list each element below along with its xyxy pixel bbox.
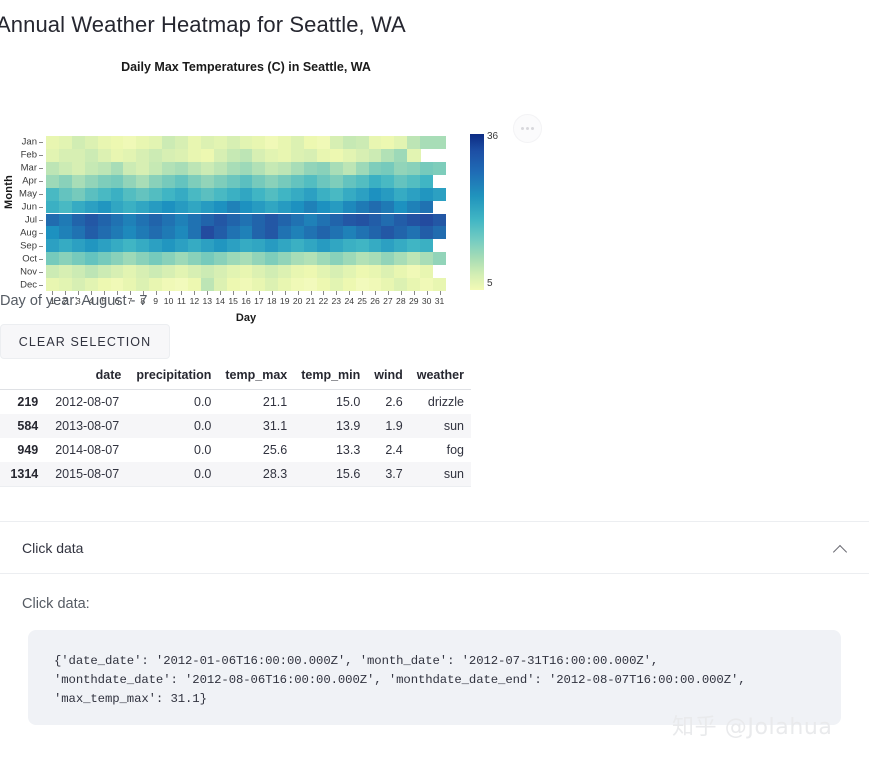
heatmap-cell[interactable] — [304, 226, 317, 239]
heatmap-cell[interactable] — [59, 188, 72, 201]
heatmap-cell[interactable] — [188, 149, 201, 162]
heatmap-cell[interactable] — [433, 136, 446, 149]
heatmap-cell[interactable] — [59, 278, 72, 291]
heatmap-cell[interactable] — [420, 239, 433, 252]
heatmap-cell[interactable] — [420, 226, 433, 239]
heatmap-cell[interactable] — [291, 149, 304, 162]
heatmap-cell[interactable] — [214, 239, 227, 252]
heatmap-cell[interactable] — [227, 162, 240, 175]
heatmap-cell[interactable] — [381, 188, 394, 201]
heatmap-cell[interactable] — [72, 162, 85, 175]
heatmap-cell[interactable] — [98, 278, 111, 291]
heatmap-cell[interactable] — [265, 265, 278, 278]
heatmap-cell[interactable] — [343, 278, 356, 291]
heatmap-cell[interactable] — [407, 214, 420, 227]
heatmap-cell[interactable] — [420, 201, 433, 214]
heatmap-cell[interactable] — [304, 149, 317, 162]
heatmap-cell[interactable] — [188, 136, 201, 149]
heatmap-cell[interactable] — [162, 188, 175, 201]
heatmap-cell[interactable] — [46, 201, 59, 214]
heatmap-cell[interactable] — [72, 201, 85, 214]
heatmap-cell[interactable] — [394, 214, 407, 227]
heatmap-cell[interactable] — [381, 214, 394, 227]
heatmap-cell[interactable] — [188, 201, 201, 214]
heatmap-cell[interactable] — [394, 265, 407, 278]
heatmap-cell[interactable] — [136, 265, 149, 278]
heatmap-cell[interactable] — [317, 149, 330, 162]
heatmap-cell[interactable] — [369, 226, 382, 239]
heatmap-cell[interactable] — [188, 278, 201, 291]
expander-click-data[interactable] — [0, 533, 869, 565]
heatmap-cell[interactable] — [85, 175, 98, 188]
heatmap-plot-area[interactable] — [46, 136, 446, 291]
heatmap-cell[interactable] — [85, 201, 98, 214]
heatmap-cell[interactable] — [111, 265, 124, 278]
heatmap-cell[interactable] — [227, 239, 240, 252]
heatmap-cell[interactable] — [394, 175, 407, 188]
heatmap-cell[interactable] — [175, 214, 188, 227]
heatmap-cell[interactable] — [330, 265, 343, 278]
heatmap-cell[interactable] — [123, 226, 136, 239]
heatmap-cell[interactable] — [330, 239, 343, 252]
heatmap-cell[interactable] — [240, 252, 253, 265]
heatmap-cell[interactable] — [317, 136, 330, 149]
heatmap-cell[interactable] — [407, 278, 420, 291]
heatmap-cell[interactable] — [265, 162, 278, 175]
heatmap-cell[interactable] — [265, 239, 278, 252]
heatmap-cell[interactable] — [123, 188, 136, 201]
heatmap-cell[interactable] — [98, 175, 111, 188]
heatmap-cell[interactable] — [407, 239, 420, 252]
heatmap-cell[interactable] — [381, 175, 394, 188]
heatmap-cell[interactable] — [252, 188, 265, 201]
heatmap-cell[interactable] — [252, 265, 265, 278]
heatmap-cell[interactable] — [162, 175, 175, 188]
heatmap-cell[interactable] — [304, 265, 317, 278]
heatmap-cell[interactable] — [188, 239, 201, 252]
heatmap-cell[interactable] — [98, 265, 111, 278]
heatmap-cell[interactable] — [304, 162, 317, 175]
heatmap-cell[interactable] — [149, 136, 162, 149]
heatmap-cell[interactable] — [59, 214, 72, 227]
heatmap-cell[interactable] — [407, 136, 420, 149]
heatmap-cell[interactable] — [227, 175, 240, 188]
heatmap-cell[interactable] — [214, 201, 227, 214]
heatmap-cell[interactable] — [356, 214, 369, 227]
heatmap-cell[interactable] — [175, 278, 188, 291]
heatmap-cell[interactable] — [162, 149, 175, 162]
heatmap-cell[interactable] — [356, 149, 369, 162]
heatmap-cell[interactable] — [343, 175, 356, 188]
heatmap-cell[interactable] — [407, 188, 420, 201]
heatmap-cell[interactable] — [381, 265, 394, 278]
heatmap-cell[interactable] — [123, 214, 136, 227]
heatmap-cell[interactable] — [265, 188, 278, 201]
heatmap-cell[interactable] — [381, 136, 394, 149]
heatmap-cell[interactable] — [394, 136, 407, 149]
heatmap-cell[interactable] — [240, 175, 253, 188]
heatmap-cell[interactable] — [98, 226, 111, 239]
heatmap-cell[interactable] — [369, 214, 382, 227]
heatmap-cell[interactable] — [98, 136, 111, 149]
heatmap-cell[interactable] — [214, 149, 227, 162]
heatmap-cell[interactable] — [394, 188, 407, 201]
heatmap-cell[interactable] — [407, 252, 420, 265]
heatmap-cell[interactable] — [85, 162, 98, 175]
heatmap-cell[interactable] — [149, 252, 162, 265]
heatmap-cell[interactable] — [162, 201, 175, 214]
heatmap-cell[interactable] — [356, 239, 369, 252]
heatmap-cell[interactable] — [162, 278, 175, 291]
heatmap-cell[interactable] — [111, 226, 124, 239]
heatmap-cell[interactable] — [136, 188, 149, 201]
heatmap-cell[interactable] — [356, 188, 369, 201]
heatmap-cell[interactable] — [420, 175, 433, 188]
heatmap-cell[interactable] — [136, 136, 149, 149]
heatmap-cell[interactable] — [46, 162, 59, 175]
heatmap-cell[interactable] — [72, 214, 85, 227]
heatmap-cell[interactable] — [188, 226, 201, 239]
heatmap-cell[interactable] — [214, 136, 227, 149]
heatmap-cell[interactable] — [304, 188, 317, 201]
heatmap-cell[interactable] — [343, 214, 356, 227]
heatmap-cell[interactable] — [317, 226, 330, 239]
heatmap-cell[interactable] — [59, 201, 72, 214]
heatmap-cell[interactable] — [98, 188, 111, 201]
heatmap-cell[interactable] — [304, 175, 317, 188]
heatmap-cell[interactable] — [227, 214, 240, 227]
heatmap-cell[interactable] — [420, 188, 433, 201]
heatmap-cell[interactable] — [252, 136, 265, 149]
dataframe-table[interactable]: dateprecipitationtemp_maxtemp_minwindwea… — [0, 364, 471, 487]
heatmap-cell[interactable] — [59, 175, 72, 188]
chevron-up-icon[interactable] — [834, 543, 848, 557]
heatmap-cell[interactable] — [201, 214, 214, 227]
heatmap-cell[interactable] — [72, 278, 85, 291]
heatmap-cell[interactable] — [317, 265, 330, 278]
heatmap-cell[interactable] — [46, 188, 59, 201]
heatmap-cell[interactable] — [291, 188, 304, 201]
heatmap-cell[interactable] — [420, 214, 433, 227]
heatmap-cell[interactable] — [433, 162, 446, 175]
heatmap-cell[interactable] — [291, 214, 304, 227]
heatmap-cell[interactable] — [240, 226, 253, 239]
heatmap-cell[interactable] — [407, 162, 420, 175]
heatmap-cell[interactable] — [317, 162, 330, 175]
heatmap-cell[interactable] — [59, 265, 72, 278]
heatmap-cell[interactable] — [394, 239, 407, 252]
heatmap-cell[interactable] — [381, 239, 394, 252]
heatmap-cell[interactable] — [72, 175, 85, 188]
heatmap-cell[interactable] — [330, 278, 343, 291]
heatmap-cell[interactable] — [123, 278, 136, 291]
heatmap-cell[interactable] — [240, 162, 253, 175]
table-row[interactable]: 2192012-08-070.021.115.02.6drizzle — [0, 390, 471, 415]
heatmap-cell[interactable] — [265, 252, 278, 265]
heatmap-cell[interactable] — [278, 265, 291, 278]
heatmap-cell[interactable] — [420, 278, 433, 291]
heatmap-cell[interactable] — [201, 149, 214, 162]
heatmap-cell[interactable] — [240, 149, 253, 162]
heatmap-cell[interactable] — [407, 149, 420, 162]
heatmap-cell[interactable] — [149, 278, 162, 291]
heatmap-cell[interactable] — [420, 136, 433, 149]
heatmap-cell[interactable] — [162, 136, 175, 149]
heatmap-cell[interactable] — [72, 239, 85, 252]
heatmap-cell[interactable] — [317, 188, 330, 201]
heatmap-cell[interactable] — [59, 162, 72, 175]
heatmap-cell[interactable] — [59, 239, 72, 252]
heatmap-cell[interactable] — [136, 175, 149, 188]
heatmap-cell[interactable] — [149, 201, 162, 214]
heatmap-cell[interactable] — [343, 226, 356, 239]
heatmap-cell[interactable] — [304, 214, 317, 227]
heatmap-cell[interactable] — [304, 136, 317, 149]
heatmap-cell[interactable] — [369, 162, 382, 175]
heatmap-cell[interactable] — [149, 226, 162, 239]
heatmap-cell[interactable] — [201, 162, 214, 175]
heatmap-cell[interactable] — [369, 136, 382, 149]
heatmap-cell[interactable] — [85, 214, 98, 227]
heatmap-cell[interactable] — [330, 136, 343, 149]
heatmap-cell[interactable] — [369, 188, 382, 201]
heatmap-cell[interactable] — [162, 265, 175, 278]
heatmap-cell[interactable] — [46, 265, 59, 278]
heatmap-cell[interactable] — [369, 201, 382, 214]
heatmap-cell[interactable] — [214, 226, 227, 239]
heatmap-cell[interactable] — [317, 252, 330, 265]
heatmap-cell[interactable] — [278, 252, 291, 265]
heatmap-cell[interactable] — [433, 278, 446, 291]
heatmap-cell[interactable] — [46, 226, 59, 239]
heatmap-cell[interactable] — [381, 252, 394, 265]
heatmap-cell[interactable] — [123, 162, 136, 175]
heatmap-cell[interactable] — [46, 149, 59, 162]
heatmap-cell[interactable] — [175, 175, 188, 188]
heatmap-cell[interactable] — [46, 175, 59, 188]
heatmap-cell[interactable] — [381, 226, 394, 239]
heatmap-cell[interactable] — [252, 162, 265, 175]
heatmap-cell[interactable] — [227, 136, 240, 149]
heatmap-cell[interactable] — [136, 278, 149, 291]
heatmap-cell[interactable] — [214, 252, 227, 265]
heatmap-cell[interactable] — [59, 226, 72, 239]
heatmap-cell[interactable] — [59, 136, 72, 149]
heatmap-cell[interactable] — [136, 214, 149, 227]
heatmap-cell[interactable] — [175, 188, 188, 201]
heatmap-cell[interactable] — [111, 214, 124, 227]
heatmap-cell[interactable] — [175, 252, 188, 265]
heatmap-cell[interactable] — [214, 265, 227, 278]
heatmap-cell[interactable] — [175, 239, 188, 252]
heatmap-cell[interactable] — [85, 239, 98, 252]
heatmap-cell[interactable] — [188, 214, 201, 227]
heatmap-cell[interactable] — [123, 201, 136, 214]
heatmap-cell[interactable] — [111, 136, 124, 149]
heatmap-cell[interactable] — [227, 226, 240, 239]
heatmap-cell[interactable] — [188, 265, 201, 278]
heatmap-cell[interactable] — [162, 226, 175, 239]
heatmap-cell[interactable] — [188, 188, 201, 201]
heatmap-cell[interactable] — [240, 239, 253, 252]
heatmap-cell[interactable] — [291, 175, 304, 188]
heatmap-cell[interactable] — [343, 149, 356, 162]
heatmap-cell[interactable] — [381, 278, 394, 291]
heatmap-cell[interactable] — [252, 175, 265, 188]
heatmap-cell[interactable] — [407, 201, 420, 214]
heatmap-cell[interactable] — [111, 188, 124, 201]
heatmap-cell[interactable] — [420, 252, 433, 265]
heatmap-cell[interactable] — [59, 149, 72, 162]
heatmap-cell[interactable] — [240, 265, 253, 278]
heatmap-cell[interactable] — [317, 239, 330, 252]
heatmap-cell[interactable] — [278, 136, 291, 149]
heatmap-cell[interactable] — [278, 214, 291, 227]
heatmap-cell[interactable] — [136, 252, 149, 265]
heatmap-cell[interactable] — [304, 239, 317, 252]
heatmap-cell[interactable] — [72, 188, 85, 201]
heatmap-cell[interactable] — [149, 149, 162, 162]
heatmap-cell[interactable] — [369, 278, 382, 291]
heatmap-cell[interactable] — [111, 149, 124, 162]
heatmap-cell[interactable] — [252, 201, 265, 214]
heatmap-cell[interactable] — [330, 149, 343, 162]
heatmap-cell[interactable] — [72, 265, 85, 278]
heatmap-cell[interactable] — [343, 188, 356, 201]
heatmap-cell[interactable] — [291, 239, 304, 252]
heatmap-cell[interactable] — [356, 136, 369, 149]
heatmap-cell[interactable] — [433, 252, 446, 265]
heatmap-cell[interactable] — [123, 149, 136, 162]
heatmap-cell[interactable] — [356, 162, 369, 175]
heatmap-cell[interactable] — [356, 278, 369, 291]
heatmap-cell[interactable] — [111, 278, 124, 291]
heatmap-cell[interactable] — [136, 201, 149, 214]
heatmap-cell[interactable] — [72, 136, 85, 149]
heatmap-cell[interactable] — [149, 265, 162, 278]
heatmap-cell[interactable] — [291, 278, 304, 291]
heatmap-cell[interactable] — [227, 201, 240, 214]
heatmap-cell[interactable] — [98, 239, 111, 252]
heatmap-cell[interactable] — [46, 252, 59, 265]
heatmap-cell[interactable] — [369, 175, 382, 188]
heatmap-cell[interactable] — [381, 201, 394, 214]
heatmap-cell[interactable] — [46, 214, 59, 227]
heatmap-cell[interactable] — [98, 201, 111, 214]
heatmap-cell[interactable] — [85, 226, 98, 239]
heatmap-cell[interactable] — [291, 252, 304, 265]
heatmap-cell[interactable] — [201, 188, 214, 201]
heatmap-cell[interactable] — [304, 252, 317, 265]
heatmap-cell[interactable] — [252, 252, 265, 265]
heatmap-cell[interactable] — [175, 136, 188, 149]
heatmap-cell[interactable] — [330, 214, 343, 227]
heatmap-cell[interactable] — [123, 239, 136, 252]
heatmap-cell[interactable] — [149, 188, 162, 201]
heatmap-cell[interactable] — [317, 175, 330, 188]
table-row[interactable]: 13142015-08-070.028.315.63.7sun — [0, 462, 471, 487]
heatmap-cell[interactable] — [252, 278, 265, 291]
heatmap-cell[interactable] — [175, 226, 188, 239]
heatmap-cell[interactable] — [265, 136, 278, 149]
heatmap-cell[interactable] — [72, 226, 85, 239]
heatmap-cell[interactable] — [149, 214, 162, 227]
heatmap-cell[interactable] — [201, 201, 214, 214]
heatmap-cell[interactable] — [98, 149, 111, 162]
heatmap-cell[interactable] — [343, 265, 356, 278]
heatmap-cell[interactable] — [394, 278, 407, 291]
heatmap-cell[interactable] — [46, 136, 59, 149]
heatmap-cell[interactable] — [381, 162, 394, 175]
heatmap-cell[interactable] — [85, 252, 98, 265]
heatmap-cell[interactable] — [201, 136, 214, 149]
heatmap-cell[interactable] — [278, 226, 291, 239]
heatmap-cell[interactable] — [85, 149, 98, 162]
heatmap-cell[interactable] — [330, 162, 343, 175]
heatmap-cell[interactable] — [394, 162, 407, 175]
heatmap-cell[interactable] — [356, 201, 369, 214]
heatmap-cell[interactable] — [343, 252, 356, 265]
heatmap-cell[interactable] — [123, 265, 136, 278]
heatmap-cell[interactable] — [394, 226, 407, 239]
heatmap-cell[interactable] — [343, 162, 356, 175]
heatmap-cell[interactable] — [330, 175, 343, 188]
heatmap-cell[interactable] — [394, 252, 407, 265]
heatmap-cell[interactable] — [369, 149, 382, 162]
heatmap-cell[interactable] — [162, 214, 175, 227]
heatmap-cell[interactable] — [304, 201, 317, 214]
heatmap-cell[interactable] — [162, 162, 175, 175]
heatmap-cell[interactable] — [291, 136, 304, 149]
heatmap-cell[interactable] — [252, 226, 265, 239]
heatmap-cell[interactable] — [85, 136, 98, 149]
heatmap-cell[interactable] — [214, 278, 227, 291]
heatmap-cell[interactable] — [240, 214, 253, 227]
heatmap-cell[interactable] — [188, 162, 201, 175]
heatmap-cell[interactable] — [227, 149, 240, 162]
heatmap-cell[interactable] — [214, 188, 227, 201]
heatmap-cell[interactable] — [420, 162, 433, 175]
table-row[interactable]: 9492014-08-070.025.613.32.4fog — [0, 438, 471, 462]
heatmap-cell[interactable] — [317, 214, 330, 227]
heatmap-cell[interactable] — [369, 239, 382, 252]
heatmap-cell[interactable] — [252, 214, 265, 227]
heatmap-cell[interactable] — [369, 265, 382, 278]
heatmap-cell[interactable] — [162, 239, 175, 252]
heatmap-cell[interactable] — [201, 226, 214, 239]
heatmap-cell[interactable] — [278, 239, 291, 252]
heatmap-cell[interactable] — [291, 226, 304, 239]
heatmap-cell[interactable] — [278, 278, 291, 291]
heatmap-cell[interactable] — [201, 175, 214, 188]
heatmap-cell[interactable] — [201, 252, 214, 265]
heatmap-cell[interactable] — [265, 278, 278, 291]
heatmap-cell[interactable] — [433, 214, 446, 227]
heatmap-cell[interactable] — [111, 162, 124, 175]
clear-selection-button[interactable]: CLEAR SELECTION — [0, 324, 170, 359]
heatmap-cell[interactable] — [136, 162, 149, 175]
heatmap-cell[interactable] — [149, 239, 162, 252]
heatmap-cell[interactable] — [175, 201, 188, 214]
heatmap-cell[interactable] — [240, 136, 253, 149]
heatmap-cell[interactable] — [201, 265, 214, 278]
heatmap-cell[interactable] — [304, 278, 317, 291]
heatmap-cell[interactable] — [175, 162, 188, 175]
heatmap-cell[interactable] — [356, 265, 369, 278]
heatmap-cell[interactable] — [214, 162, 227, 175]
heatmap-cell[interactable] — [59, 252, 72, 265]
heatmap-cell[interactable] — [330, 226, 343, 239]
